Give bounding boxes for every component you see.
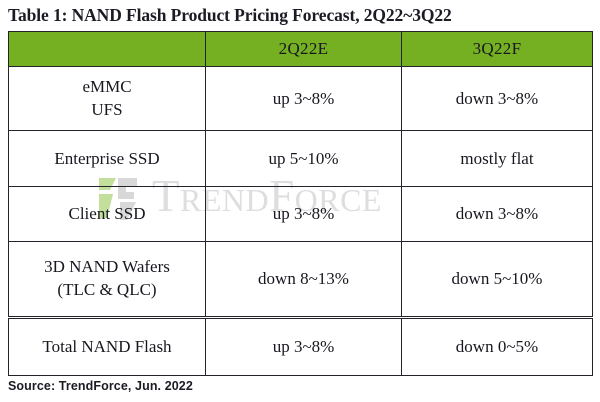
column-header-2q22e: 2Q22E [206,32,402,67]
cell-emmc-ufs-3q22f: down 3~8% [402,67,593,131]
pricing-table: 2Q22E 3Q22F eMMC UFS up 3~8% down 3~8% E… [8,31,593,376]
row-label-enterprise-ssd: Enterprise SSD [9,131,206,187]
pricing-table-container: 2Q22E 3Q22F eMMC UFS up 3~8% down 3~8% E… [8,31,592,376]
row-label-line: 3D NAND Wafers [9,256,205,279]
table-row: Enterprise SSD up 5~10% mostly flat [9,131,593,187]
row-label-3d-nand-wafers: 3D NAND Wafers (TLC & QLC) [9,242,206,318]
row-label-client-ssd: Client SSD [9,187,206,242]
column-header-product [9,32,206,67]
table-header-row: 2Q22E 3Q22F [9,32,593,67]
cell-total-nand-flash-2q22e: up 3~8% [206,318,402,376]
table-figure: Table 1: NAND Flash Product Pricing Fore… [0,0,600,402]
page-title: Table 1: NAND Flash Product Pricing Fore… [8,2,592,28]
table-row: Client SSD up 3~8% down 3~8% [9,187,593,242]
cell-emmc-ufs-2q22e: up 3~8% [206,67,402,131]
row-label-line: (TLC & QLC) [9,279,205,302]
table-row: Total NAND Flash up 3~8% down 0~5% [9,318,593,376]
cell-total-nand-flash-3q22f: down 0~5% [402,318,593,376]
column-header-3q22f: 3Q22F [402,32,593,67]
cell-3d-nand-wafers-3q22f: down 5~10% [402,242,593,318]
table-row: eMMC UFS up 3~8% down 3~8% [9,67,593,131]
table-body: eMMC UFS up 3~8% down 3~8% Enterprise SS… [9,67,593,376]
source-note: Source: TrendForce, Jun. 2022 [8,374,193,398]
table-header: 2Q22E 3Q22F [9,32,593,67]
cell-enterprise-ssd-2q22e: up 5~10% [206,131,402,187]
table-row: 3D NAND Wafers (TLC & QLC) down 8~13% do… [9,242,593,318]
cell-client-ssd-3q22f: down 3~8% [402,187,593,242]
row-label-line: eMMC [9,76,205,99]
cell-enterprise-ssd-3q22f: mostly flat [402,131,593,187]
cell-3d-nand-wafers-2q22e: down 8~13% [206,242,402,318]
cell-client-ssd-2q22e: up 3~8% [206,187,402,242]
row-label-emmc-ufs: eMMC UFS [9,67,206,131]
row-label-line: UFS [9,99,205,122]
row-label-total-nand-flash: Total NAND Flash [9,318,206,376]
